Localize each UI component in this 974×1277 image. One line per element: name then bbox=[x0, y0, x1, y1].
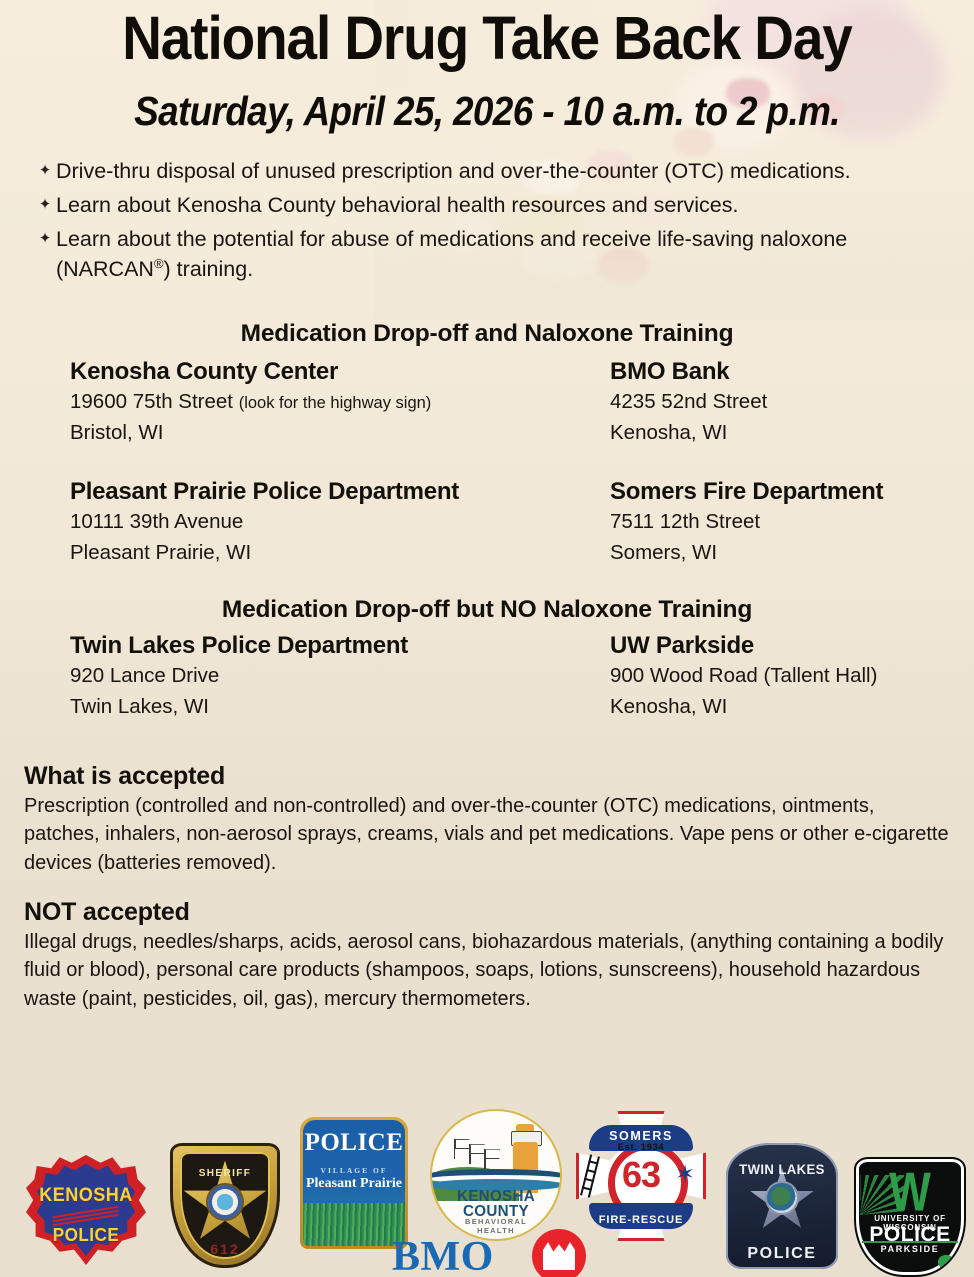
somers-established: Est. 1934 bbox=[576, 1142, 706, 1153]
twin-lakes-bottom-word: POLICE bbox=[726, 1245, 838, 1263]
not-accepted-block: NOT accepted Illegal drugs, needles/shar… bbox=[24, 898, 954, 1013]
kenosha-county-sheriff-badge-icon: SHERIFF 612 bbox=[170, 1143, 280, 1268]
pleasant-prairie-village-of: VILLAGE OF bbox=[300, 1166, 408, 1175]
venue-street: 920 Lance Drive bbox=[70, 660, 500, 691]
section-heading-with-naloxone: Medication Drop-off and Naloxone Trainin… bbox=[0, 320, 974, 348]
accepted-heading: What is accepted bbox=[24, 762, 954, 791]
kenosha-police-badge-icon: KENOSHA POLICE bbox=[26, 1155, 146, 1265]
venue-name: Somers Fire Department bbox=[610, 478, 974, 506]
list-item: ✦ Learn about Kenosha County behavioral … bbox=[34, 190, 964, 220]
venue-street: 900 Wood Road (Tallent Hall) bbox=[610, 660, 974, 691]
list-item-label: Learn about the potential for abuse of m… bbox=[56, 224, 964, 284]
venue-name: BMO Bank bbox=[610, 358, 974, 386]
accepted-block: What is accepted Prescription (controlle… bbox=[24, 762, 954, 877]
venue-city: Kenosha, WI bbox=[610, 417, 974, 448]
pleasant-prairie-police-word: POLICE bbox=[300, 1129, 408, 1157]
uw-w-mark: W bbox=[884, 1168, 936, 1218]
venue-street: 7511 12th Street bbox=[610, 506, 974, 537]
venue-name: Pleasant Prairie Police Department bbox=[70, 478, 500, 506]
kenosha-county-behavioral-health-logo-icon: KENOSHA COUNTY BEHAVIORAL HEALTH bbox=[430, 1109, 562, 1241]
bullet-diamond-icon: ✦ bbox=[34, 224, 56, 254]
paw-icon bbox=[938, 1255, 954, 1269]
twin-lakes-top-word: TWIN LAKES bbox=[729, 1161, 834, 1177]
bullet-diamond-icon: ✦ bbox=[34, 190, 56, 220]
venue-address: 19600 75th Street (look for the highway … bbox=[70, 386, 500, 417]
flyer-page: National Drug Take Back Day Saturday, Ap… bbox=[0, 0, 974, 1277]
partner-logo-strip: KENOSHA POLICE SHERIFF 612 POLICE VILLAG… bbox=[0, 1047, 974, 1277]
not-accepted-heading: NOT accepted bbox=[24, 898, 954, 927]
venue-somers-fire: Somers Fire Department 7511 12th Street … bbox=[610, 478, 974, 569]
bmo-wordmark: BMO bbox=[392, 1233, 494, 1277]
flyer-subtitle: Saturday, April 25, 2026 - 10 a.m. to 2 … bbox=[49, 88, 926, 135]
accepted-body: Prescription (controlled and non-control… bbox=[24, 792, 954, 877]
venue-name: Kenosha County Center bbox=[70, 358, 500, 386]
kenosha-police-streak-icon bbox=[52, 1211, 119, 1221]
list-item: ✦ Learn about the potential for abuse of… bbox=[34, 224, 964, 284]
venue-uw-parkside: UW Parkside 900 Wood Road (Tallent Hall)… bbox=[610, 632, 974, 723]
somers-fire-rescue-badge-icon: 63 ✶ SOMERS Est. 1934 FIRE-RESCUE bbox=[576, 1111, 706, 1241]
highlights-list: ✦ Drive-thru disposal of unused prescrip… bbox=[34, 156, 964, 288]
venue-note: (look for the highway sign) bbox=[239, 394, 432, 412]
somers-number: 63 bbox=[608, 1154, 674, 1196]
list-item-label: Learn about Kenosha County behavioral he… bbox=[56, 190, 964, 220]
flyer-title: National Drug Take Back Day bbox=[49, 6, 926, 70]
venue-name: UW Parkside bbox=[610, 632, 974, 660]
flag-icon bbox=[469, 1144, 471, 1164]
section-heading-no-naloxone: Medication Drop-off but NO Naloxone Trai… bbox=[0, 596, 974, 624]
kenosha-police-line1: KENOSHA bbox=[29, 1185, 143, 1207]
list-item-label: Drive-thru disposal of unused prescripti… bbox=[56, 156, 964, 186]
venue-kenosha-county-center: Kenosha County Center 19600 75th Street … bbox=[70, 358, 500, 449]
twin-lakes-police-badge-icon: TWIN LAKES POLICE bbox=[726, 1143, 838, 1269]
somers-top-word: SOMERS bbox=[589, 1129, 693, 1143]
venue-street: 10111 39th Avenue bbox=[70, 506, 500, 537]
star-of-life-icon: ✶ bbox=[673, 1163, 697, 1187]
venue-city: Twin Lakes, WI bbox=[70, 691, 500, 722]
bmo-roundel-icon bbox=[532, 1229, 586, 1277]
venue-twin-lakes-police: Twin Lakes Police Department 920 Lance D… bbox=[70, 632, 500, 723]
venue-name: Twin Lakes Police Department bbox=[70, 632, 500, 660]
bmo-logo-icon: BMO bbox=[392, 1229, 592, 1277]
not-accepted-body: Illegal drugs, needles/sharps, acids, ae… bbox=[24, 928, 954, 1013]
sheriff-number: 612 bbox=[170, 1241, 280, 1257]
venue-street: 19600 75th Street bbox=[70, 390, 233, 413]
uw-campus-word: PARKSIDE bbox=[856, 1244, 964, 1254]
venue-city: Kenosha, WI bbox=[610, 691, 974, 722]
venue-bmo-bank: BMO Bank 4235 52nd Street Kenosha, WI bbox=[610, 358, 974, 449]
venue-city: Bristol, WI bbox=[70, 417, 500, 448]
list-item: ✦ Drive-thru disposal of unused prescrip… bbox=[34, 156, 964, 186]
venue-city: Pleasant Prairie, WI bbox=[70, 537, 500, 568]
sheriff-word: SHERIFF bbox=[170, 1168, 280, 1179]
venue-city: Somers, WI bbox=[610, 537, 974, 568]
venue-street: 4235 52nd Street bbox=[610, 386, 974, 417]
venue-pleasant-prairie-police: Pleasant Prairie Police Department 10111… bbox=[70, 478, 500, 569]
flag-icon bbox=[484, 1149, 486, 1169]
uw-parkside-police-badge-icon: W UNIVERSITY OF WISCONSIN POLICE PARKSID… bbox=[856, 1159, 964, 1275]
pleasant-prairie-name: Pleasant Prairie bbox=[300, 1176, 408, 1192]
kenosha-police-line2: POLICE bbox=[29, 1225, 143, 1246]
flag-icon bbox=[454, 1139, 456, 1159]
bullet-diamond-icon: ✦ bbox=[34, 156, 56, 186]
somers-bottom-word: FIRE-RESCUE bbox=[589, 1214, 693, 1226]
